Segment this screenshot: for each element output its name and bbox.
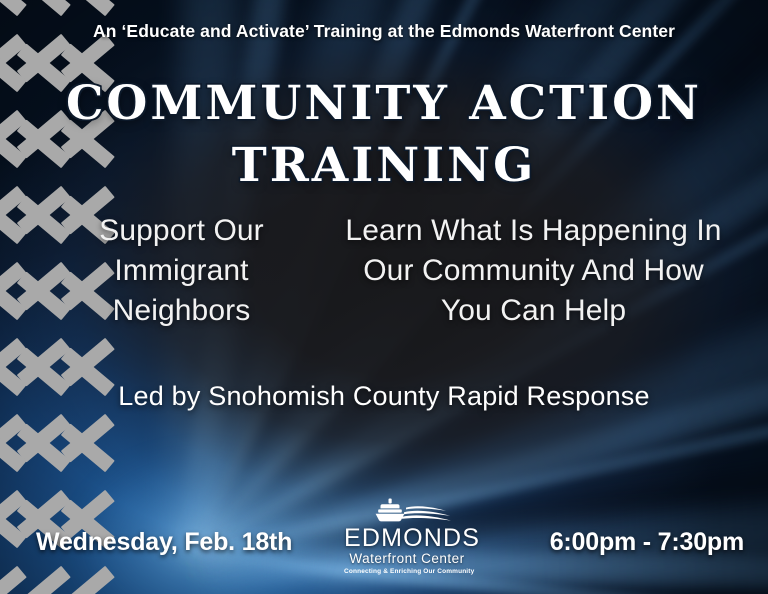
led-by-text: Led by Snohomish County Rapid Response [0,375,768,417]
event-time: 6:00pm - 7:30pm [550,528,744,557]
ferry-boat-waves-icon [344,497,470,525]
column-learn-what-is-happening: Learn What Is Happening In Our Community… [336,211,731,331]
edmonds-waterfront-center-logo: EDMONDS Waterfront Center Connecting & E… [344,497,470,579]
logo-name: EDMONDS [344,525,470,551]
event-date: Wednesday, Feb. 18th [36,528,292,557]
logo-subtitle: Waterfront Center [344,551,470,566]
logo-tagline: Connecting & Enriching Our Community [344,568,470,576]
title-line-2: TRAINING [0,135,768,197]
page-title: COMMUNITY ACTION TRAINING [0,73,768,197]
benefit-columns: Support Our Immigrant Neighbors Learn Wh… [40,211,740,331]
column-support-immigrant-neighbors: Support Our Immigrant Neighbors [49,211,314,331]
flyer-header-text: An ‘Educate and Activate’ Training at th… [0,21,768,42]
event-flyer: An ‘Educate and Activate’ Training at th… [0,0,768,594]
title-line-1: COMMUNITY ACTION [0,73,768,135]
